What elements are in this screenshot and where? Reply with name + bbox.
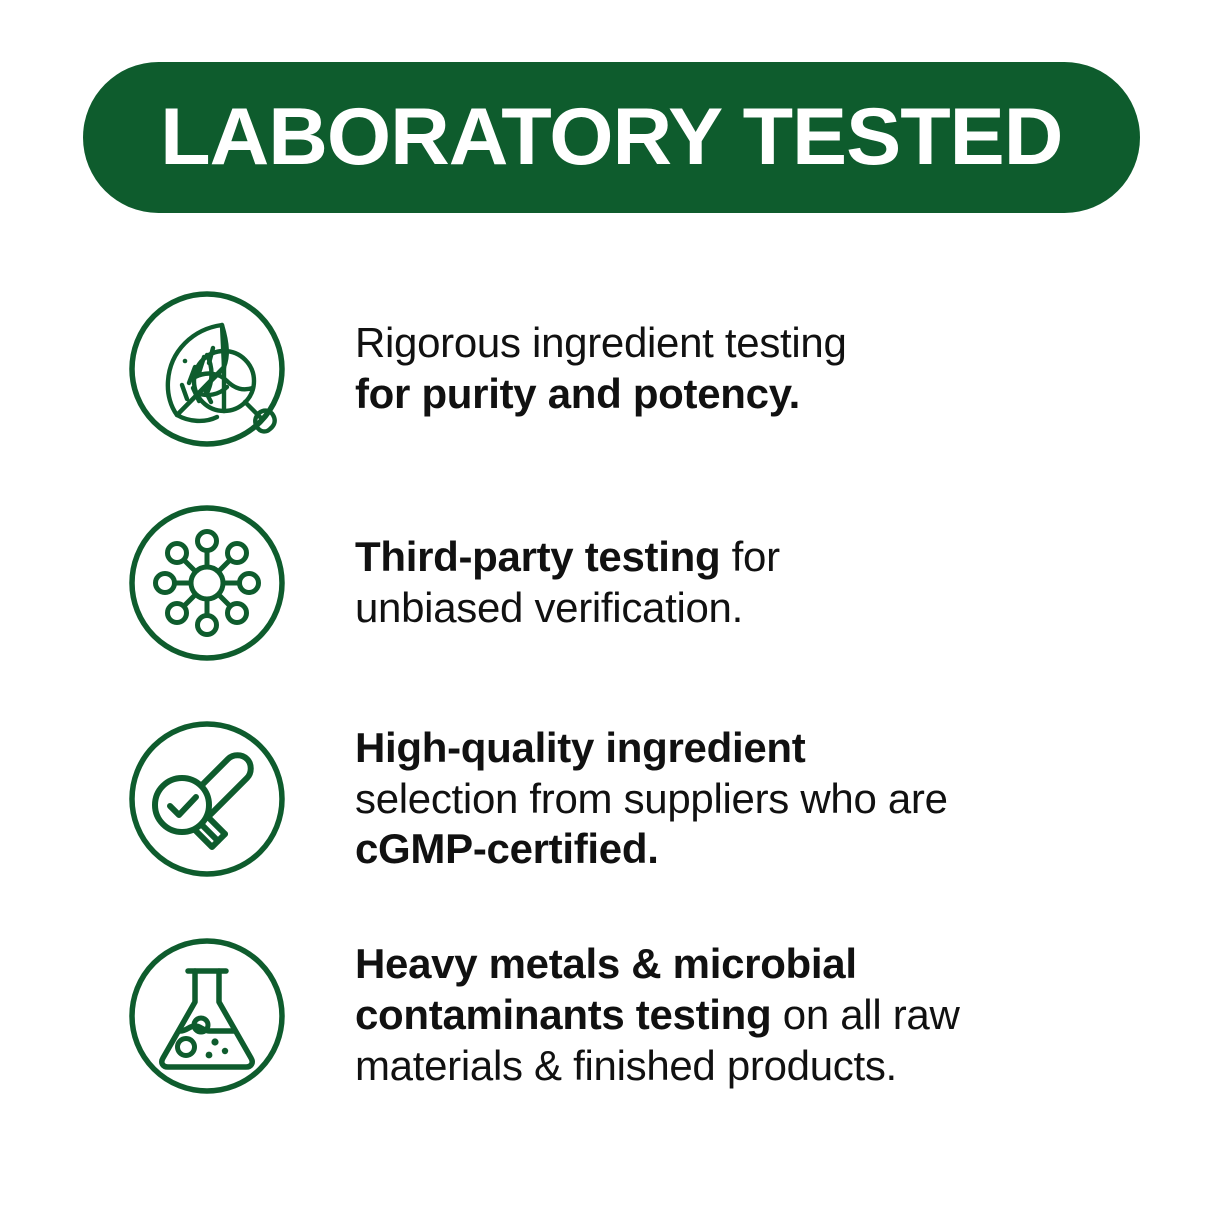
page-title: LABORATORY TESTED xyxy=(160,97,1062,178)
feature-row: Third-party testing for unbiased verific… xyxy=(0,475,1214,690)
stamp-check-icon xyxy=(127,719,287,879)
flask-icon xyxy=(127,936,287,1096)
feature-text: High-quality ingredient selection from s… xyxy=(287,723,1214,875)
feature-row: High-quality ingredient selection from s… xyxy=(0,690,1214,908)
feature-line: unbiased verification. xyxy=(355,583,1094,634)
feature-line: cGMP-certified. xyxy=(355,824,1094,875)
feature-line: High-quality ingredient xyxy=(355,723,1094,774)
feature-line: materials & finished products. xyxy=(355,1041,1094,1092)
feature-line: contaminants testing on all raw xyxy=(355,990,1094,1041)
feature-list: Rigorous ingredient testing for purity a… xyxy=(0,263,1214,1123)
feature-line-regular: on all raw xyxy=(771,991,959,1038)
feature-line: Heavy metals & microbial xyxy=(355,939,1094,990)
feature-line-regular: for xyxy=(720,533,779,580)
feature-row: Heavy metals & microbial contaminants te… xyxy=(0,908,1214,1123)
feature-line-bold: contaminants testing xyxy=(355,991,771,1038)
feature-text: Third-party testing for unbiased verific… xyxy=(287,532,1214,634)
leaf-magnifier-icon xyxy=(127,289,287,449)
feature-line: Third-party testing for xyxy=(355,532,1094,583)
feature-row: Rigorous ingredient testing for purity a… xyxy=(0,263,1214,475)
feature-text: Heavy metals & microbial contaminants te… xyxy=(287,939,1214,1091)
feature-text: Rigorous ingredient testing for purity a… xyxy=(287,318,1214,420)
laboratory-tested-infographic: LABORATORY TESTED xyxy=(0,0,1214,1214)
feature-line: selection from suppliers who are xyxy=(355,774,1094,825)
feature-line: for purity and potency. xyxy=(355,369,1094,420)
feature-line: Rigorous ingredient testing xyxy=(355,318,1094,369)
feature-line-bold: Third-party testing xyxy=(355,533,720,580)
network-nodes-icon xyxy=(127,503,287,663)
laboratory-tested-banner: LABORATORY TESTED xyxy=(83,62,1140,213)
